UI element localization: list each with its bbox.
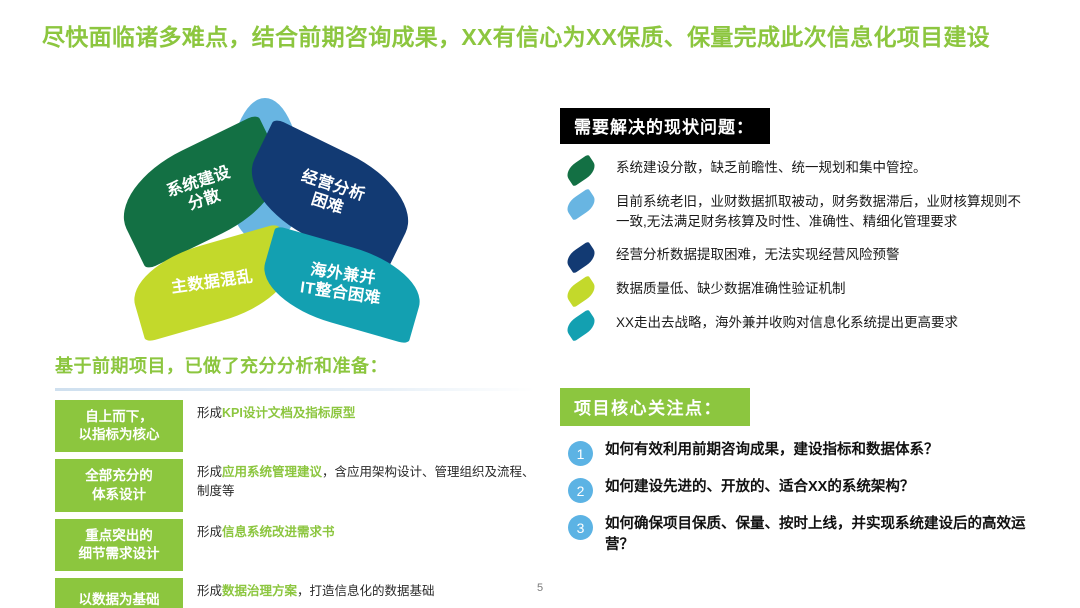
slide-root: 尽快面临诸多难点，结合前期咨询成果，XX有信心为XX保质、保量完成此次信息化项目… [0, 0, 1080, 608]
problems-heading: 需要解决的现状问题： [560, 108, 770, 144]
problem-row: 数据质量低、缺少数据准确性验证机制 [560, 279, 1030, 301]
focus-number-badge: 1 [568, 441, 593, 466]
problem-text: 系统建设分散，缺乏前瞻性、统一规划和集中管控。 [616, 158, 1030, 178]
preparation-tag: 全部充分的体系设计 [55, 459, 183, 511]
page-number: 5 [0, 582, 1080, 594]
focus-row: 3如何确保项目保质、保量、按时上线，并实现系统建设后的高效运营？ [560, 514, 1030, 556]
problem-row: XX走出去战略，海外兼并收购对信息化系统提出更高要求 [560, 313, 1030, 335]
preparation-desc-prefix: 形成 [197, 525, 222, 539]
preparation-heading: 基于前期项目，已做了充分分析和准备： [55, 352, 535, 378]
focus-text: 如何有效利用前期咨询成果，建设指标和数据体系？ [605, 440, 1030, 461]
focus-row: 2如何建设先进的、开放的、适合XX的系统架构？ [560, 477, 1030, 503]
leaf-bullet-icon [563, 309, 598, 342]
preparation-desc-highlight: 应用系统管理建议 [222, 465, 322, 479]
focus-list: 1如何有效利用前期咨询成果，建设指标和数据体系？2如何建设先进的、开放的、适合X… [560, 440, 1030, 556]
preparation-desc-prefix: 形成 [197, 465, 222, 479]
focus-heading: 项目核心关注点： [560, 388, 750, 426]
preparation-row: 全部充分的体系设计形成应用系统管理建议，含应用架构设计、管理组织及流程、制度等 [55, 459, 535, 511]
page-title: 尽快面临诸多难点，结合前期咨询成果，XX有信心为XX保质、保量完成此次信息化项目… [42, 22, 1032, 54]
problem-row: 系统建设分散，缺乏前瞻性、统一规划和集中管控。 [560, 158, 1030, 180]
focus-row: 1如何有效利用前期咨询成果，建设指标和数据体系？ [560, 440, 1030, 466]
preparation-description: 形成应用系统管理建议，含应用架构设计、管理组织及流程、制度等 [183, 459, 535, 499]
petal-flower-diagram: 系统功能弱 系统建设分散 经营分析困难 主数据混乱 海外兼并IT整合困难 [110, 96, 440, 346]
preparation-tag: 自上而下，以指标为核心 [55, 400, 183, 452]
leaf-bullet-icon [563, 241, 598, 274]
preparation-description: 形成KPI设计文档及指标原型 [183, 400, 535, 422]
focus-section: 项目核心关注点： 1如何有效利用前期咨询成果，建设指标和数据体系？2如何建设先进… [560, 388, 1030, 567]
problems-section: 需要解决的现状问题： 系统建设分散，缺乏前瞻性、统一规划和集中管控。目前系统老旧… [560, 108, 1030, 347]
leaf-bullet-icon [563, 154, 598, 187]
focus-number-badge: 3 [568, 515, 593, 540]
focus-text: 如何确保项目保质、保量、按时上线，并实现系统建设后的高效运营？ [605, 514, 1030, 556]
preparation-divider [55, 388, 535, 391]
problem-text: 目前系统老旧，业财数据抓取被动，财务数据滞后，业财核算规则不一致,无法满足财务核… [616, 192, 1030, 233]
leaf-bullet-icon [563, 188, 598, 221]
petal-left-label: 系统建设分散 [165, 164, 239, 220]
preparation-rows: 自上而下，以指标为核心形成KPI设计文档及指标原型全部充分的体系设计形成应用系统… [55, 400, 535, 608]
problem-text: 数据质量低、缺少数据准确性验证机制 [616, 279, 1030, 299]
preparation-desc-highlight: 信息系统改进需求书 [222, 525, 335, 539]
preparation-row: 重点突出的细节需求设计形成信息系统改进需求书 [55, 519, 535, 571]
petal-bottom-right-label: 海外兼并IT整合困难 [299, 261, 385, 309]
leaf-bullet-icon [563, 275, 598, 308]
focus-number-badge: 2 [568, 478, 593, 503]
problem-row: 经营分析数据提取困难，无法实现经营风险预警 [560, 245, 1030, 267]
petal-right-label: 经营分析困难 [293, 168, 367, 224]
preparation-desc-highlight: KPI设计文档及指标原型 [222, 406, 355, 420]
preparation-description: 形成信息系统改进需求书 [183, 519, 535, 541]
problem-row: 目前系统老旧，业财数据抓取被动，财务数据滞后，业财核算规则不一致,无法满足财务核… [560, 192, 1030, 233]
preparation-section: 基于前期项目，已做了充分分析和准备： 自上而下，以指标为核心形成KPI设计文档及… [55, 352, 535, 608]
problems-list: 系统建设分散，缺乏前瞻性、统一规划和集中管控。目前系统老旧，业财数据抓取被动，财… [560, 158, 1030, 335]
focus-text: 如何建设先进的、开放的、适合XX的系统架构？ [605, 477, 1030, 498]
preparation-tag: 重点突出的细节需求设计 [55, 519, 183, 571]
petal-bottom-left-label: 主数据混乱 [170, 268, 254, 298]
preparation-row: 自上而下，以指标为核心形成KPI设计文档及指标原型 [55, 400, 535, 452]
preparation-desc-prefix: 形成 [197, 406, 222, 420]
problem-text: XX走出去战略，海外兼并收购对信息化系统提出更高要求 [616, 313, 1030, 333]
problem-text: 经营分析数据提取困难，无法实现经营风险预警 [616, 245, 1030, 265]
